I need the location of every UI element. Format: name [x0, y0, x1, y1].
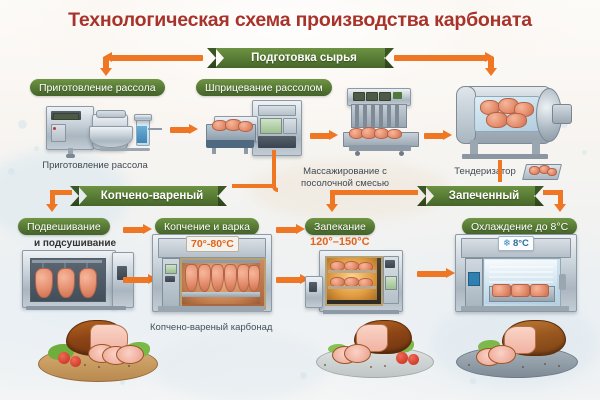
machine-hanging-chamber: [20, 250, 135, 312]
product-baked-roast-slate: [452, 318, 582, 378]
machine-brine-kettle: [40, 104, 170, 159]
banner-baked: Запеченный: [425, 186, 543, 206]
bg-speck: [8, 168, 15, 175]
arrow-down-to-cooling: [554, 204, 566, 212]
arrow-down-right: [485, 68, 497, 76]
arrow-baking-to-cooling: [417, 268, 457, 279]
step-pill-brine-injection[interactable]: Шприцевание рассолом: [196, 79, 332, 96]
snowflake-icon: ❄: [503, 238, 511, 249]
arrow-down-left: [100, 68, 112, 76]
subcaption-drying: и подсушивание: [10, 238, 140, 249]
page-title: Технологическая схема производства карбо…: [0, 9, 600, 32]
bg-speck: [120, 380, 125, 385]
bg-smudge: [150, 330, 330, 400]
machine-massager: [333, 88, 433, 160]
banner-smoked-boiled: Копчено-вареный: [78, 186, 226, 206]
arrow-hanging-to-smoking: [123, 224, 153, 235]
arrow-right-from-preparation: [394, 52, 494, 63]
step-pill-hanging[interactable]: Подвешивание: [18, 218, 110, 235]
caption-brine-preparation: Приготовление рассола: [20, 160, 170, 172]
bg-speck: [34, 146, 39, 151]
step-pill-brine-preparation[interactable]: Приготовление рассола: [30, 79, 165, 96]
connector-smoked-h: [50, 190, 72, 197]
cold-temperature-badge: ❄ 8°C: [498, 236, 534, 251]
infographic-canvas: Технологическая схема производства карбо…: [0, 0, 600, 400]
bg-speck: [582, 150, 587, 155]
temperature-baking: 120°–150°C: [310, 236, 370, 248]
caption-massaging: Массажирование с посолочной смесью: [285, 166, 405, 189]
product-smoked-boiled-roast: [28, 318, 168, 380]
arrow-smoking-to-baking: [276, 224, 306, 235]
banner-preparation: Подготовка сырья: [215, 48, 393, 68]
step-pill-smoking-boiling[interactable]: Копчение и варка: [155, 218, 259, 235]
connector-to-smoked-banner-h: [232, 184, 276, 190]
bg-speck: [470, 378, 476, 384]
caption-massaging-line2: посолочной смесью: [301, 178, 389, 189]
bg-speck: [18, 120, 27, 129]
caption-massaging-line1: Массажирование с: [303, 166, 387, 177]
step-pill-cooling[interactable]: Охлаждение до 8°C: [462, 218, 577, 235]
arrow-down-to-hanging: [46, 204, 58, 212]
product-baked-roast-stone: [310, 318, 440, 378]
meat-tray-icon: [524, 160, 560, 182]
arrow-kettle-to-injector: [170, 124, 198, 135]
cold-temperature-value: 8°C: [513, 238, 529, 249]
caption-tenderizer: Тендеризатор: [440, 166, 530, 178]
connector-to-baked-banner: [498, 160, 504, 182]
arrow-down-to-baking: [326, 204, 338, 212]
connector-baked-left-h: [330, 190, 418, 197]
temperature-smoking: 70°-80°C: [186, 236, 239, 252]
caption-smoked-boiled-product: Копчено-вареный карбонад: [150, 322, 272, 333]
bg-speck: [300, 372, 307, 379]
machine-tenderizer: [448, 84, 573, 162]
machine-brine-injector: [200, 100, 320, 162]
step-pill-baking[interactable]: Запекание: [305, 218, 375, 235]
arrow-left-from-preparation: [103, 52, 203, 63]
